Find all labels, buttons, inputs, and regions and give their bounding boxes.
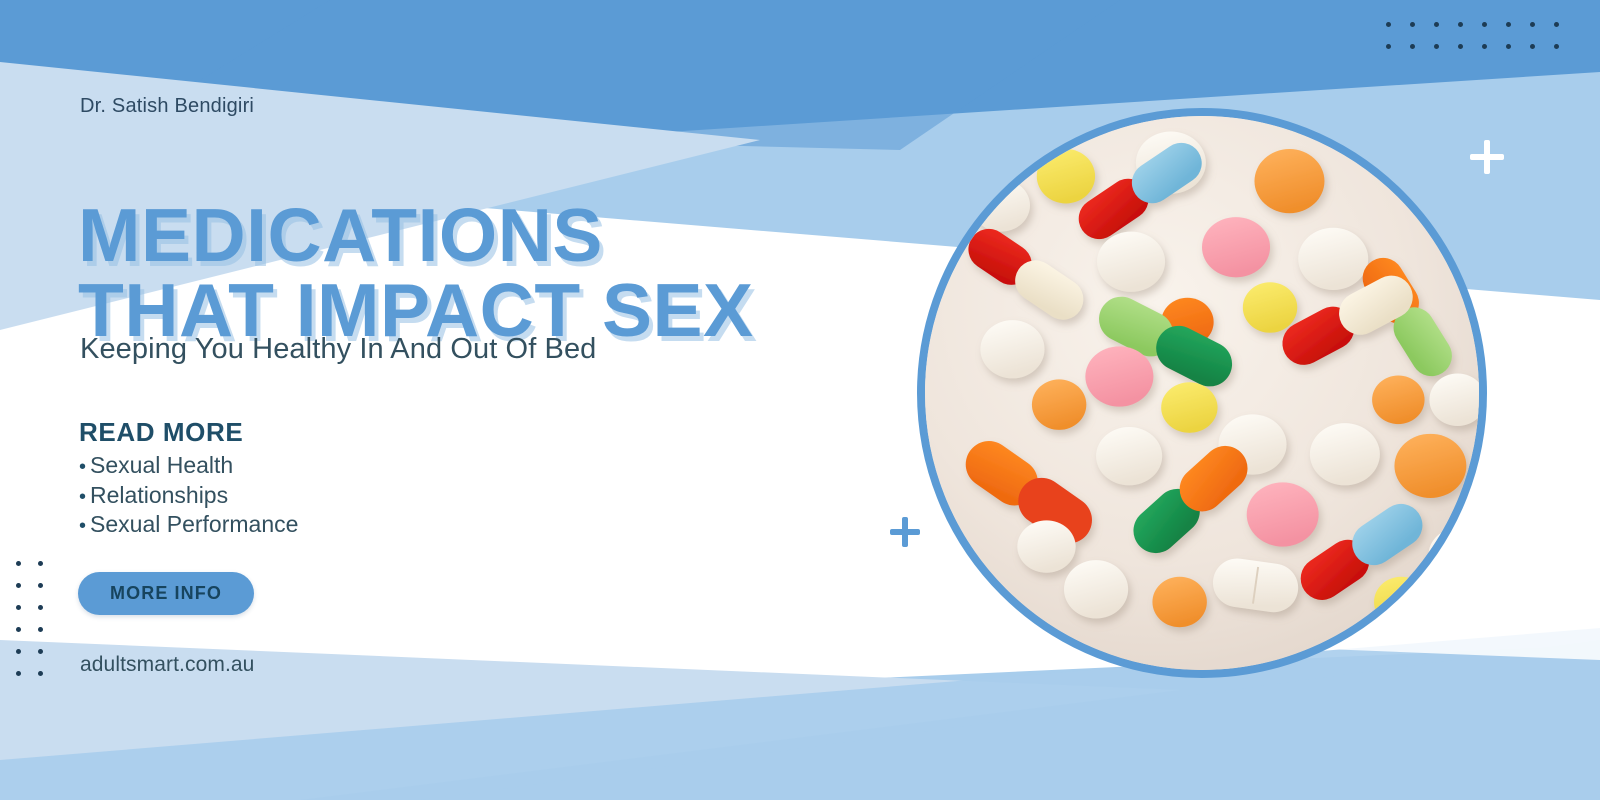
dot	[1410, 44, 1415, 49]
read-more-heading: READ MORE	[79, 417, 243, 448]
dot	[1530, 22, 1535, 27]
dot	[38, 561, 43, 566]
dot	[38, 649, 43, 654]
dot	[1458, 22, 1463, 27]
list-item-label: Relationships	[90, 482, 228, 508]
dot	[16, 583, 21, 588]
dot	[16, 627, 21, 632]
plus-icon	[890, 517, 920, 547]
list-item-label: Sexual Health	[90, 452, 233, 478]
dot	[1506, 44, 1511, 49]
list-item: •Sexual Health	[79, 452, 298, 482]
dot-grid-top-right	[1386, 22, 1578, 66]
dot	[38, 583, 43, 588]
bullet-marker: •	[79, 515, 90, 537]
bullet-marker: •	[79, 456, 90, 478]
plus-icon	[1470, 140, 1504, 174]
promo-banner: Dr. Satish Bendigiri MEDICATIONS THAT IM…	[0, 0, 1600, 800]
dot	[1386, 22, 1391, 27]
more-info-button[interactable]: MORE INFO	[78, 572, 254, 615]
dot	[16, 671, 21, 676]
author-name: Dr. Satish Bendigiri	[80, 95, 254, 118]
website-url: adultsmart.com.au	[80, 653, 254, 677]
dot	[16, 605, 21, 610]
dot	[1554, 44, 1559, 49]
list-item: •Relationships	[79, 482, 298, 512]
dot	[1458, 44, 1463, 49]
subtitle: Keeping You Healthy In And Out Of Bed	[80, 333, 596, 366]
page-title: MEDICATIONS THAT IMPACT SEX	[78, 198, 754, 347]
dot	[1554, 22, 1559, 27]
list-item: •Sexual Performance	[79, 511, 298, 541]
dot	[16, 649, 21, 654]
bullet-marker: •	[79, 486, 90, 508]
pills-and-capsules-photo	[917, 108, 1487, 678]
dot	[38, 605, 43, 610]
dot	[1434, 44, 1439, 49]
dot	[1410, 22, 1415, 27]
dot	[38, 627, 43, 632]
dot	[38, 671, 43, 676]
dot	[1530, 44, 1535, 49]
banner-content: Dr. Satish Bendigiri MEDICATIONS THAT IM…	[78, 0, 938, 800]
dot	[1482, 44, 1487, 49]
topic-list: •Sexual Health •Relationships •Sexual Pe…	[79, 452, 298, 541]
dot	[1434, 22, 1439, 27]
dot	[16, 561, 21, 566]
dot-grid-left	[16, 561, 60, 693]
dot	[1482, 22, 1487, 27]
dot	[1506, 22, 1511, 27]
list-item-label: Sexual Performance	[90, 511, 298, 537]
dot	[1386, 44, 1391, 49]
headline-line-1: MEDICATIONS	[78, 193, 603, 277]
